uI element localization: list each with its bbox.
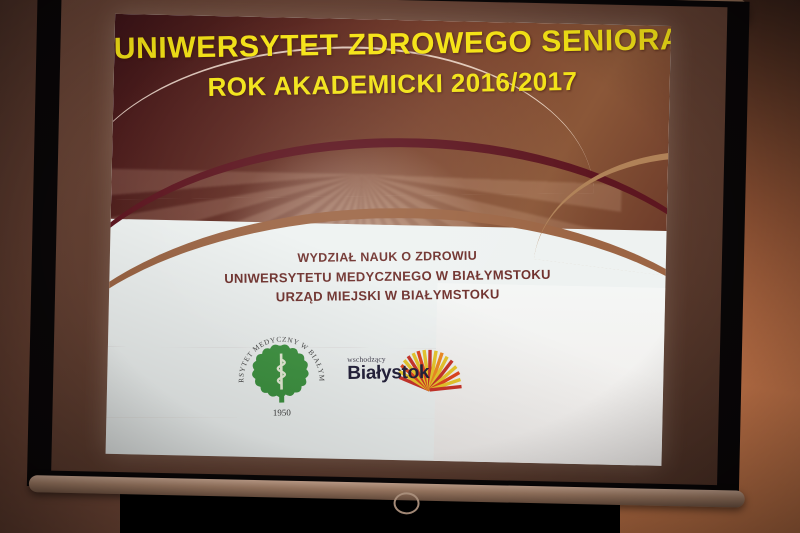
- university-seal-logo: UNIWERSYTET MEDYCZNY W BIAŁYMSTOKU 1950: [231, 323, 332, 424]
- slide-body-block: WYDZIAŁ NAUK O ZDROWIU UNIWERSYTETU MEDY…: [109, 244, 666, 309]
- city-logo-text: wschodzący Białystok: [347, 354, 429, 383]
- projector-screen-assembly[interactable]: UNIWERSYTET ZDROWEGO SENIORA ROK AKADEMI…: [8, 0, 779, 522]
- photo-background: [433, 283, 665, 466]
- screen-pull-ring[interactable]: [393, 492, 419, 515]
- city-logo-name: Białystok: [347, 363, 429, 383]
- bialystok-city-logo: wschodzący Białystok: [345, 337, 464, 411]
- room-scene: UNIWERSYTET ZDROWEGO SENIORA ROK AKADEMI…: [0, 0, 800, 533]
- slide-title-block: UNIWERSYTET ZDROWEGO SENIORA ROK AKADEMI…: [114, 23, 671, 106]
- projected-slide: UNIWERSYTET ZDROWEGO SENIORA ROK AKADEMI…: [106, 14, 671, 466]
- seal-year: 1950: [273, 407, 292, 417]
- seal-tree-emblem: [252, 344, 309, 403]
- senior-couple-photo: [433, 283, 665, 466]
